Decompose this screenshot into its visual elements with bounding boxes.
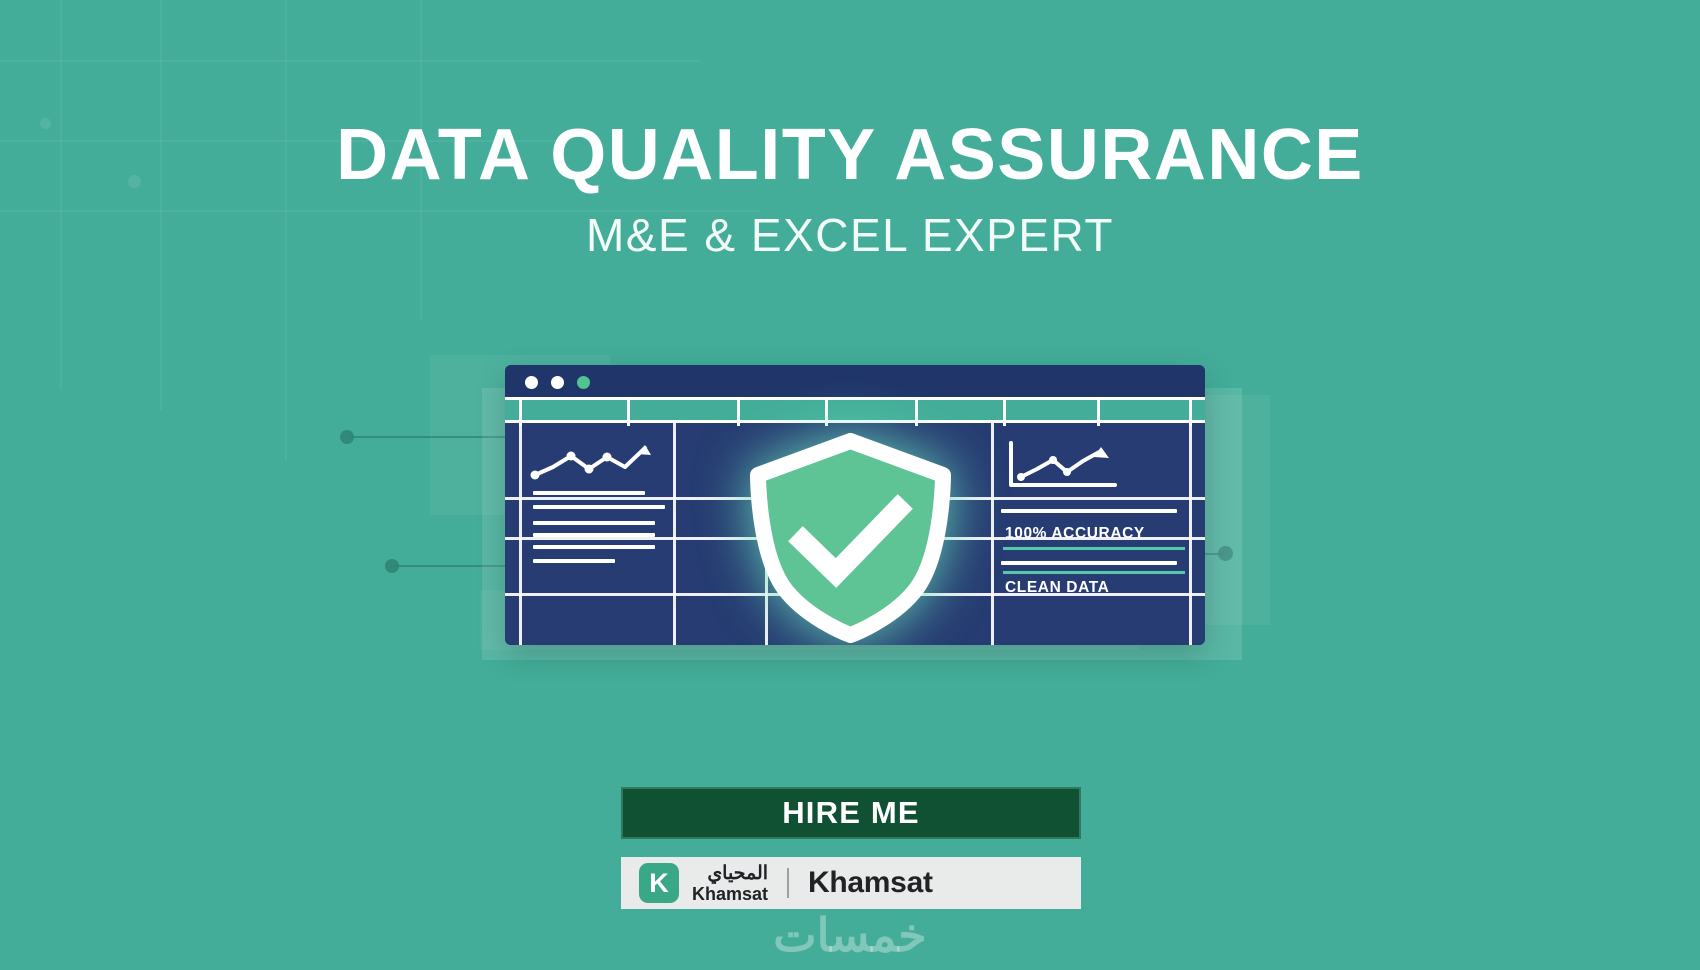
placeholder-line (533, 533, 655, 537)
poster-canvas: DATA QUALITY ASSURANCE M&E & EXCEL EXPER… (0, 0, 1700, 970)
dashboard-window: 100% ACCURACY CLEAN DATA (505, 365, 1205, 645)
kpi-clean-data-label: CLEAN DATA (1005, 579, 1109, 597)
khamsat-logo-icon: K (639, 863, 679, 903)
khamsat-wordmark-arabic: المحياي Khamsat (692, 864, 768, 903)
header-col-sep (627, 400, 630, 426)
grid-line-vertical (673, 423, 676, 645)
line-chart-icon (529, 441, 654, 488)
khamsat-watermark: خمسات (0, 908, 1700, 962)
kpi-rule (1003, 571, 1185, 574)
placeholder-line (533, 559, 615, 563)
placeholder-line (533, 545, 655, 549)
khamsat-arabic-bottom: Khamsat (692, 885, 768, 903)
header-col-sep (1097, 400, 1100, 426)
hire-me-label: HIRE ME (782, 795, 920, 831)
grid-line-vertical (991, 423, 994, 645)
hire-me-button[interactable]: HIRE ME (621, 787, 1081, 839)
grid-line-vertical (1189, 423, 1192, 645)
header-col-sep (825, 400, 828, 426)
khamsat-name: Khamsat (808, 866, 933, 900)
window-dot-icon[interactable] (525, 376, 538, 389)
placeholder-line (1001, 509, 1177, 513)
window-titlebar (505, 365, 1205, 397)
kpi-rule (1003, 547, 1185, 550)
khamsat-brand-bar[interactable]: K المحياي Khamsat Khamsat (621, 857, 1081, 909)
header-col-sep (1003, 400, 1006, 426)
decor-node-dot (385, 559, 399, 573)
placeholder-line (533, 505, 665, 509)
page-title: DATA QUALITY ASSURANCE (0, 118, 1700, 194)
shield-check-icon (743, 433, 958, 643)
spreadsheet-area: 100% ACCURACY CLEAN DATA (505, 397, 1205, 645)
header-col-sep (737, 400, 740, 426)
placeholder-line (533, 521, 655, 525)
decor-node-dot (340, 430, 354, 444)
grid-line-vertical (519, 423, 522, 645)
header-col-sep (915, 400, 918, 426)
placeholder-line (533, 491, 645, 495)
window-dot-icon[interactable] (551, 376, 564, 389)
khamsat-arabic-top: المحياي (692, 864, 768, 883)
decor-horizontal-line (0, 60, 700, 62)
headline-block: DATA QUALITY ASSURANCE M&E & EXCEL EXPER… (0, 118, 1700, 262)
window-dot-green-icon[interactable] (577, 376, 590, 389)
page-subtitle: M&E & EXCEL EXPERT (0, 208, 1700, 262)
line-chart-icon (1003, 439, 1123, 500)
kpi-accuracy-label: 100% ACCURACY (1005, 525, 1145, 543)
spreadsheet-header-row (505, 397, 1205, 423)
placeholder-line (1001, 561, 1177, 565)
brand-divider (787, 868, 789, 898)
